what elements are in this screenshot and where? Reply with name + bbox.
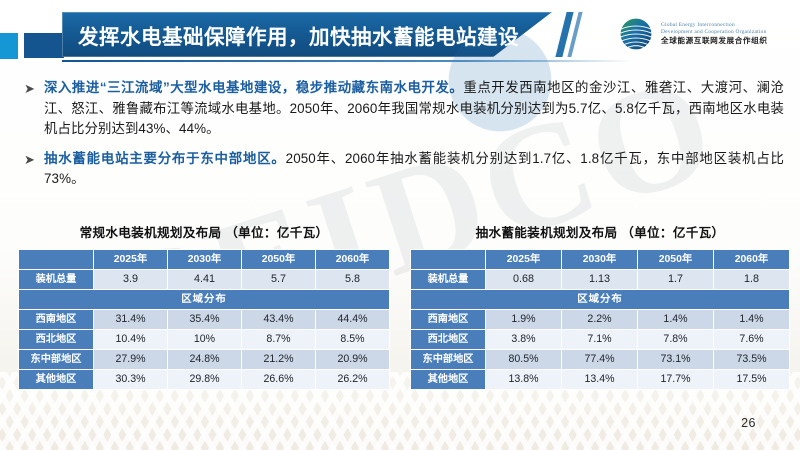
table-cell: 35.4% xyxy=(168,310,241,329)
logo-en-line2: Development and Cooperation Organization xyxy=(661,29,768,35)
column-header: 2050年 xyxy=(638,250,713,269)
bullet-highlight: 抽水蓄能电站主要分布于东中部地区。 xyxy=(44,151,286,166)
header-left-edge-accent xyxy=(0,33,18,59)
table-cell: 5.7 xyxy=(242,270,315,289)
table-cell: 80.5% xyxy=(486,350,561,369)
column-header: 2025年 xyxy=(94,250,167,269)
table-cell: 1.9% xyxy=(486,310,561,329)
table-row: 装机总量 0.68 1.13 1.7 1.8 xyxy=(411,270,789,289)
header-underline-rule xyxy=(62,60,632,62)
table-cell: 17.5% xyxy=(714,370,789,389)
table-cell: 1.7 xyxy=(638,270,713,289)
bullet-item: ➤ 抽水蓄能电站主要分布于东中部地区。2050年、2060年抽水蓄能装机分别达到… xyxy=(24,149,784,190)
table-cell: 21.2% xyxy=(242,350,315,369)
table-section-band: 区域分布 xyxy=(411,290,789,309)
table-title: 常规水电装机规划及布局 （单位：亿千瓦） xyxy=(18,222,390,241)
row-header: 其他地区 xyxy=(411,370,485,389)
row-header: 东中部地区 xyxy=(411,350,485,369)
table-cell: 1.13 xyxy=(562,270,637,289)
column-header: 2060年 xyxy=(714,250,789,269)
row-header: 西北地区 xyxy=(411,330,485,349)
table-row: 装机总量 3.9 4.41 5.7 5.8 xyxy=(19,270,389,289)
slide-header: 发挥水电基础保障作用，加快抽水蓄能电站建设 xyxy=(0,0,800,70)
row-header: 装机总量 xyxy=(19,270,93,289)
table-cell: 1.8 xyxy=(714,270,789,289)
section-band-label: 区域分布 xyxy=(19,290,389,309)
bullet-list: ➤ 深入推进“三江流域”大型水电基地建设，稳步推动藏东南水电开发。重点开发西南地… xyxy=(24,78,784,199)
table-row: 西北地区 10.4% 10% 8.7% 8.5% xyxy=(19,330,389,349)
bullet-text: 抽水蓄能电站主要分布于东中部地区。2050年、2060年抽水蓄能装机分别达到1.… xyxy=(44,149,784,190)
data-table: 2025年 2030年 2050年 2060年 装机总量 0.68 1.13 1… xyxy=(410,249,790,390)
bullet-arrow-icon: ➤ xyxy=(24,78,44,140)
page-number: 26 xyxy=(741,416,756,430)
table-cell: 1.4% xyxy=(714,310,789,329)
bullet-text: 深入推进“三江流域”大型水电基地建设，稳步推动藏东南水电开发。重点开发西南地区的… xyxy=(44,78,784,140)
table-cell: 17.7% xyxy=(638,370,713,389)
column-header: 2050年 xyxy=(242,250,315,269)
table-cell: 10.4% xyxy=(94,330,167,349)
column-header: 2025年 xyxy=(486,250,561,269)
row-header: 西北地区 xyxy=(19,330,93,349)
table-cell: 31.4% xyxy=(94,310,167,329)
row-header: 装机总量 xyxy=(411,270,485,289)
table-cell: 5.8 xyxy=(316,270,389,289)
bullet-highlight: 深入推进“三江流域”大型水电基地建设，稳步推动藏东南水电开发。 xyxy=(44,80,463,95)
table-cell: 2.2% xyxy=(562,310,637,329)
column-header: 2060年 xyxy=(316,250,389,269)
table-cell: 7.1% xyxy=(562,330,637,349)
table-cell: 20.9% xyxy=(316,350,389,369)
table-corner-cell xyxy=(19,250,93,269)
table-cell: 7.8% xyxy=(638,330,713,349)
bullet-arrow-icon: ➤ xyxy=(24,149,44,190)
table-cell: 27.9% xyxy=(94,350,167,369)
table-row: 西南地区 31.4% 35.4% 43.4% 44.4% xyxy=(19,310,389,329)
table-cell: 43.4% xyxy=(242,310,315,329)
section-band-label: 区域分布 xyxy=(411,290,789,309)
table-cell: 26.6% xyxy=(242,370,315,389)
table-row: 西北地区 3.8% 7.1% 7.8% 7.6% xyxy=(411,330,789,349)
bottom-gradient-band xyxy=(0,398,800,450)
table-cell: 13.8% xyxy=(486,370,561,389)
table-block-pumped-storage: 抽水蓄能装机规划及布局 （单位：亿千瓦） 2025年 2030年 2050年 2… xyxy=(410,222,790,390)
table-cell: 10% xyxy=(168,330,241,349)
table-header-row: 2025年 2030年 2050年 2060年 xyxy=(19,250,389,269)
logo-text: Global Energy Interconnection Developmen… xyxy=(661,22,768,45)
table-cell: 44.4% xyxy=(316,310,389,329)
table-cell: 26.2% xyxy=(316,370,389,389)
bullet-item: ➤ 深入推进“三江流域”大型水电基地建设，稳步推动藏东南水电开发。重点开发西南地… xyxy=(24,78,784,140)
table-cell: 13.4% xyxy=(562,370,637,389)
row-header: 东中部地区 xyxy=(19,350,93,369)
table-block-conventional-hydro: 常规水电装机规划及布局 （单位：亿千瓦） 2025年 2030年 2050年 2… xyxy=(18,222,390,390)
table-cell: 73.1% xyxy=(638,350,713,369)
table-row: 东中部地区 80.5% 77.4% 73.1% 73.5% xyxy=(411,350,789,369)
table-cell: 8.5% xyxy=(316,330,389,349)
table-header-row: 2025年 2030年 2050年 2060年 xyxy=(411,250,789,269)
globe-icon xyxy=(618,16,654,52)
table-row: 西南地区 1.9% 2.2% 1.4% 1.4% xyxy=(411,310,789,329)
column-header: 2030年 xyxy=(562,250,637,269)
organization-logo: Global Energy Interconnection Developmen… xyxy=(618,16,768,52)
row-header: 西南地区 xyxy=(411,310,485,329)
table-corner-cell xyxy=(411,250,485,269)
table-cell: 3.8% xyxy=(486,330,561,349)
table-section-band: 区域分布 xyxy=(19,290,389,309)
table-cell: 7.6% xyxy=(714,330,789,349)
logo-cn-name: 全球能源互联网发展合作组织 xyxy=(661,37,768,46)
slide-canvas: GEIDCO 发挥水电基础保障作用，加快抽水蓄能电站建设 xyxy=(0,0,800,450)
table-cell: 73.5% xyxy=(714,350,789,369)
table-cell: 3.9 xyxy=(94,270,167,289)
table-cell: 29.8% xyxy=(168,370,241,389)
page-title: 发挥水电基础保障作用，加快抽水蓄能电站建设 xyxy=(78,12,548,57)
table-cell: 1.4% xyxy=(638,310,713,329)
column-header: 2030年 xyxy=(168,250,241,269)
table-cell: 4.41 xyxy=(168,270,241,289)
row-header: 西南地区 xyxy=(19,310,93,329)
data-table: 2025年 2030年 2050年 2060年 装机总量 3.9 4.41 5.… xyxy=(18,249,390,390)
table-title: 抽水蓄能装机规划及布局 （单位：亿千瓦） xyxy=(410,222,790,241)
table-cell: 30.3% xyxy=(94,370,167,389)
table-cell: 0.68 xyxy=(486,270,561,289)
header-left-block-accent xyxy=(22,31,66,60)
row-header: 其他地区 xyxy=(19,370,93,389)
table-row: 东中部地区 27.9% 24.8% 21.2% 20.9% xyxy=(19,350,389,369)
table-row: 其他地区 13.8% 13.4% 17.7% 17.5% xyxy=(411,370,789,389)
table-cell: 8.7% xyxy=(242,330,315,349)
table-row: 其他地区 30.3% 29.8% 26.6% 26.2% xyxy=(19,370,389,389)
table-cell: 77.4% xyxy=(562,350,637,369)
table-cell: 24.8% xyxy=(168,350,241,369)
